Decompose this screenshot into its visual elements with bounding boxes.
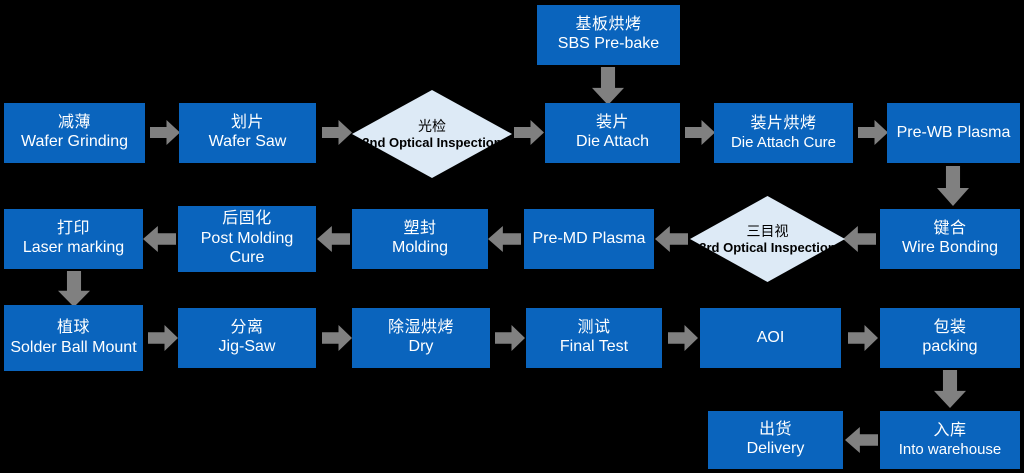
node-dry[interactable]: 除湿烘烤 Dry (352, 308, 490, 368)
node-label-en: Wafer Grinding (21, 133, 128, 152)
node-label-en: Delivery (747, 440, 805, 459)
node-sbs-prebake[interactable]: 基板烘烤 SBS Pre-bake (537, 5, 680, 65)
node-label-en: Molding (392, 239, 448, 258)
node-label-cn: 后固化 (222, 210, 272, 229)
arrow-solder-ball-mount-to-jig-saw (148, 325, 178, 351)
node-wire-bonding[interactable]: 键合 Wire Bonding (880, 209, 1020, 269)
node-molding[interactable]: 塑封 Molding (352, 209, 488, 269)
node-label-en: SBS Pre-bake (558, 35, 659, 54)
node-final-test[interactable]: 测试 Final Test (526, 308, 662, 368)
node-label-en: Pre-MD Plasma (533, 229, 646, 248)
arrow-final-test-to-aoi (668, 325, 698, 351)
node-aoi[interactable]: AOI (700, 308, 841, 368)
node-pre-wb-plasma[interactable]: Pre-WB Plasma (887, 103, 1020, 163)
node-label-en: 2nd Optical Inspection (362, 135, 501, 151)
diamond-text: 三目视 3rd Optical Inspection (699, 223, 836, 255)
node-label-cn: 出货 (759, 421, 792, 440)
node-label-cn: 打印 (57, 220, 90, 239)
node-label-cn: 测试 (577, 319, 610, 338)
node-label-cn: 装片 (596, 114, 629, 133)
node-label-cn: 三目视 (699, 223, 836, 240)
node-label-en: Laser marking (23, 239, 124, 258)
node-die-attach[interactable]: 装片 Die Attach (545, 103, 680, 163)
arrow-pre-md-plasma-to-molding (488, 226, 521, 252)
node-die-attach-cure[interactable]: 装片烘烤 Die Attach Cure (714, 103, 853, 163)
node-label-en: Into warehouse (899, 441, 1002, 459)
node-label-cn: 减薄 (58, 114, 91, 133)
node-label-cn: 包装 (933, 319, 966, 338)
arrow-die-attach-cure-to-pre-wb-plasma (858, 120, 888, 145)
arrow-wafer-saw-to-optical-2nd (322, 120, 352, 145)
node-label-cn: 基板烘烤 (575, 16, 641, 35)
node-label-en: Wire Bonding (902, 239, 998, 258)
node-label-cn: 入库 (933, 422, 966, 441)
arrow-pre-wb-plasma-to-wire-bonding (937, 166, 969, 206)
node-post-molding-cure[interactable]: 后固化 Post Molding Cure (178, 206, 316, 272)
arrow-packing-to-into-warehouse (934, 370, 966, 408)
node-label-en: Final Test (560, 338, 628, 357)
node-label-cn: 除湿烘烤 (388, 319, 454, 338)
node-label-en: Pre-WB Plasma (897, 123, 1011, 142)
arrow-post-molding-cure-to-laser-marking (143, 226, 176, 252)
node-label-en: packing (922, 338, 977, 357)
diamond-text: 光检 2nd Optical Inspection (362, 118, 501, 150)
node-label-cn: 装片烘烤 (750, 115, 816, 134)
arrow-wire-bonding-to-optical-3rd (843, 226, 876, 252)
node-label-en: Die Attach Cure (731, 134, 836, 152)
node-optical-3rd[interactable]: 三目视 3rd Optical Inspection (690, 196, 845, 282)
node-solder-ball-mount[interactable]: 植球 Solder Ball Mount (4, 305, 143, 371)
node-label-cn: 划片 (231, 114, 264, 133)
arrow-laser-marking-to-solder-ball-mount (58, 271, 90, 307)
arrow-wafer-grinding-to-wafer-saw (150, 120, 180, 145)
node-label-en: Jig-Saw (219, 338, 276, 357)
arrow-dry-to-final-test (495, 325, 525, 351)
arrow-aoi-to-packing (848, 325, 878, 351)
arrow-into-warehouse-to-delivery (845, 427, 878, 453)
node-pre-md-plasma[interactable]: Pre-MD Plasma (524, 209, 654, 269)
node-wafer-saw[interactable]: 划片 Wafer Saw (179, 103, 316, 163)
process-flow-diagram: 基板烘烤 SBS Pre-bake 减薄 Wafer Grinding 划片 W… (0, 0, 1024, 473)
arrow-sbs-prebake-to-die-attach (592, 67, 624, 105)
node-label-cn: 植球 (57, 319, 90, 338)
node-label-en: Die Attach (576, 133, 649, 152)
arrow-optical-2nd-to-die-attach (514, 120, 544, 145)
node-label-en: AOI (757, 329, 785, 348)
arrow-die-attach-to-die-attach-cure (685, 120, 715, 145)
node-label-en: 3rd Optical Inspection (699, 240, 836, 256)
arrow-jig-saw-to-dry (322, 325, 352, 351)
node-label-cn: 塑封 (403, 220, 436, 239)
node-into-warehouse[interactable]: 入库 Into warehouse (880, 411, 1020, 469)
node-optical-2nd[interactable]: 光检 2nd Optical Inspection (352, 90, 512, 178)
node-label-cn: 光检 (362, 118, 501, 135)
node-wafer-grinding[interactable]: 减薄 Wafer Grinding (4, 103, 145, 163)
node-label-cn: 分离 (230, 319, 263, 338)
node-jig-saw[interactable]: 分离 Jig-Saw (178, 308, 316, 368)
arrow-molding-to-post-molding-cure (317, 226, 350, 252)
node-delivery[interactable]: 出货 Delivery (708, 411, 843, 469)
node-label-en: Solder Ball Mount (10, 338, 136, 357)
arrow-optical-3rd-to-pre-md-plasma (655, 226, 688, 252)
node-label-en: Dry (409, 338, 434, 357)
node-packing[interactable]: 包装 packing (880, 308, 1020, 368)
node-label-en: Post Molding Cure (182, 229, 312, 267)
node-laser-marking[interactable]: 打印 Laser marking (4, 209, 143, 269)
node-label-cn: 键合 (933, 220, 966, 239)
node-label-en: Wafer Saw (209, 133, 287, 152)
